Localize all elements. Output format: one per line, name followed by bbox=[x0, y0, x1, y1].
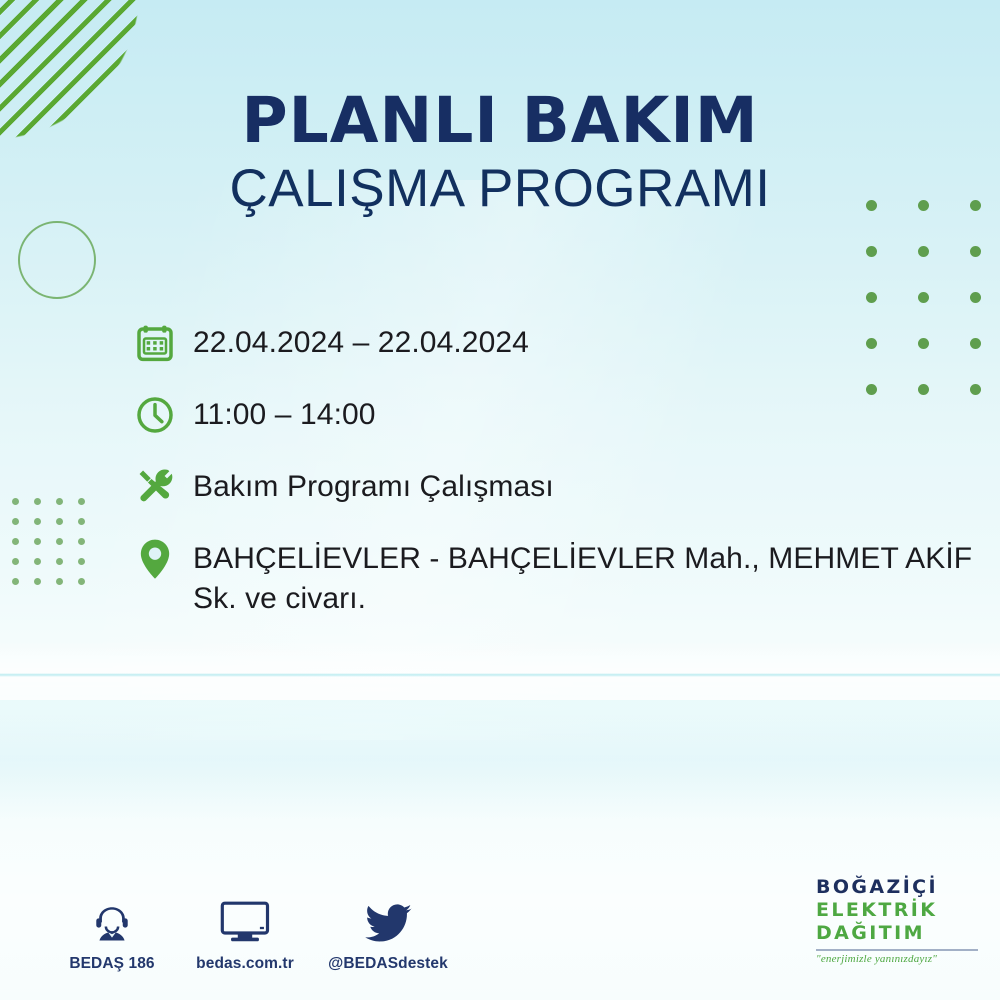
detail-row-work-type: Bakım Programı Çalışması bbox=[135, 462, 995, 512]
contact-twitter[interactable]: @BEDASdestek bbox=[318, 896, 458, 973]
tools-icon bbox=[135, 462, 193, 512]
bedas-logo: BOĞAZİÇİ ELEKTRİK DAĞITIM "enerjimizle y… bbox=[816, 876, 984, 965]
detail-row-location: BAHÇELİEVLER - BAHÇELİEVLER Mah., MEHMET… bbox=[135, 534, 995, 619]
calendar-icon bbox=[135, 318, 193, 368]
outage-time-range: 11:00 – 14:00 bbox=[193, 390, 376, 435]
outage-details-list: 22.04.2024 – 22.04.2024 11:00 – 14:00 bbox=[135, 318, 995, 619]
poster-header: PLANLI BAKIM ÇALIŞMA PROGRAMI bbox=[0, 88, 1000, 218]
logo-line-bogazici: BOĞAZİÇİ bbox=[816, 876, 984, 899]
contact-twitter-label: @BEDASdestek bbox=[328, 955, 448, 973]
outage-date-range: 22.04.2024 – 22.04.2024 bbox=[193, 318, 529, 363]
background-wave-highlight bbox=[0, 640, 1000, 700]
footer-contacts: BEDAŞ 186 bedas.com.tr @BEDASdestek bbox=[52, 896, 458, 973]
contact-phone-label: BEDAŞ 186 bbox=[69, 955, 154, 973]
background-wave-lower bbox=[0, 700, 1000, 820]
contact-website[interactable]: bedas.com.tr bbox=[184, 896, 306, 973]
page-title: PLANLI BAKIM bbox=[0, 88, 1000, 154]
background-wave-line bbox=[0, 673, 1000, 677]
logo-divider bbox=[816, 949, 978, 951]
clock-icon bbox=[135, 390, 193, 440]
location-label: BAHÇELİEVLER - BAHÇELİEVLER Mah., MEHMET… bbox=[193, 534, 995, 619]
monitor-icon bbox=[220, 896, 270, 946]
page-subtitle: ÇALIŞMA PROGRAMI bbox=[0, 160, 1000, 218]
location-pin-icon bbox=[135, 534, 193, 584]
logo-tagline: "enerjimizle yanınızdayız" bbox=[816, 953, 984, 965]
twitter-bird-icon bbox=[363, 896, 413, 946]
detail-row-time: 11:00 – 14:00 bbox=[135, 390, 995, 440]
contact-phone[interactable]: BEDAŞ 186 bbox=[52, 896, 172, 973]
contact-website-label: bedas.com.tr bbox=[196, 955, 294, 973]
circle-outline-decoration bbox=[18, 221, 96, 299]
headset-support-icon bbox=[89, 896, 135, 946]
poster-canvas: PLANLI BAKIM ÇALIŞMA PROGRAMI bbox=[0, 0, 1000, 1000]
logo-line-dagitim: DAĞITIM bbox=[816, 922, 984, 945]
work-type-label: Bakım Programı Çalışması bbox=[193, 462, 554, 507]
detail-row-date: 22.04.2024 – 22.04.2024 bbox=[135, 318, 995, 368]
logo-line-elektrik: ELEKTRİK bbox=[816, 899, 984, 922]
